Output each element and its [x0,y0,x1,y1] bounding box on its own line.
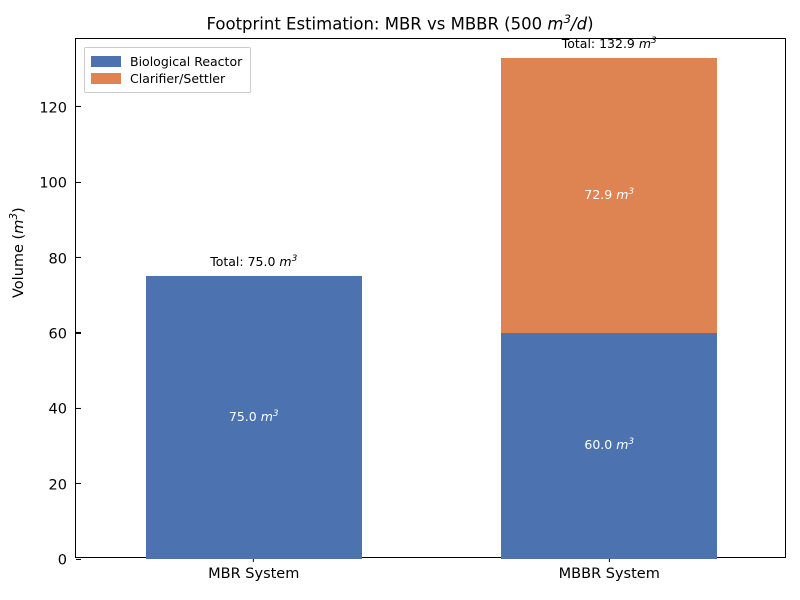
bar-segment-value-label: 72.9 m3 [501,187,717,202]
y-tick-label: 80 [49,251,76,267]
y-tick-mark [76,257,81,258]
unit-exponent: 3 [273,409,279,419]
y-tick-60: 60 [49,323,76,342]
y-tick-label: 100 [39,176,76,192]
x-tick-mbbr-system: MBBR System [559,557,660,582]
y-tick-mark [76,106,81,107]
bar-segment-mbr-system-biological-reactor[interactable]: 75.0 m3 [146,276,362,559]
bar-segment-value-label: 60.0 m3 [501,437,717,452]
y-tick-100: 100 [39,173,76,192]
legend-item-label: Biological Reactor [130,54,242,69]
legend-swatch-icon [91,73,121,84]
legend-swatch-icon [91,56,121,67]
chart-figure: Footprint Estimation: MBR vs MBBR (500 m… [0,0,800,600]
y-tick-40: 40 [49,399,76,418]
x-tick-label: MBBR System [559,566,660,582]
chart-title-math-base: m [547,15,563,34]
unit-symbol: m [279,255,291,270]
y-tick-mark [76,558,81,559]
bar-segment-mbbr-system-biological-reactor[interactable]: 60.0 m3 [501,333,717,559]
y-axis-label-math-base: m [11,220,27,234]
y-axis-label-prefix: Volume ( [11,234,27,298]
chart-title: Footprint Estimation: MBR vs MBBR (500 m… [0,12,800,34]
unit-exponent: 3 [628,187,634,197]
y-tick-mark [76,332,81,333]
y-tick-mark [76,182,81,183]
legend-item-biological-reactor[interactable]: Biological Reactor [91,53,242,70]
chart-title-prefix: Footprint Estimation: MBR vs MBBR (500 [206,15,547,34]
y-tick-80: 80 [49,248,76,267]
y-axis-label-suffix: ) [11,207,27,213]
y-axis-label-math-exponent: 3 [8,213,20,220]
legend-item-label: Clarifier/Settler [130,71,225,86]
y-tick-label: 0 [58,553,76,569]
y-tick-label: 60 [49,326,76,342]
bar-segment-mbbr-system-clarifier-settler[interactable]: 72.9 m3 [501,58,717,333]
chart-title-suffix: ) [587,15,593,34]
legend-item-clarifier-settler[interactable]: Clarifier/Settler [91,70,242,87]
unit-exponent: 3 [651,36,657,46]
chart-legend[interactable]: Biological ReactorClarifier/Settler [84,47,251,93]
bar-total-label-mbr-system: Total: 75.0 m3 [210,254,297,269]
plot-area: 020406080100120 MBR SystemMBBR System 75… [75,38,786,558]
y-tick-label: 120 [39,100,76,116]
chart-title-math-exponent: 3 [563,12,571,26]
unit-symbol: m [639,36,651,51]
unit-exponent: 3 [292,254,298,264]
x-tick-mbr-system: MBR System [208,557,299,582]
y-tick-label: 20 [49,477,76,493]
unit-symbol: m [616,437,628,452]
x-tick-label: MBR System [208,566,299,582]
y-tick-mark [76,483,81,484]
bar-segment-value-label: 75.0 m3 [146,409,362,424]
chart-title-math-tail: /d [571,15,587,34]
unit-symbol: m [616,187,628,202]
y-tick-120: 120 [39,97,76,116]
bar-total-label-mbbr-system: Total: 132.9 m3 [562,36,657,51]
y-axis-label: Volume (m3) [8,207,27,298]
unit-symbol: m [261,409,273,424]
y-tick-20: 20 [49,474,76,493]
y-tick-0: 0 [58,550,76,569]
unit-exponent: 3 [628,437,634,447]
y-tick-label: 40 [49,402,76,418]
y-tick-mark [76,408,81,409]
